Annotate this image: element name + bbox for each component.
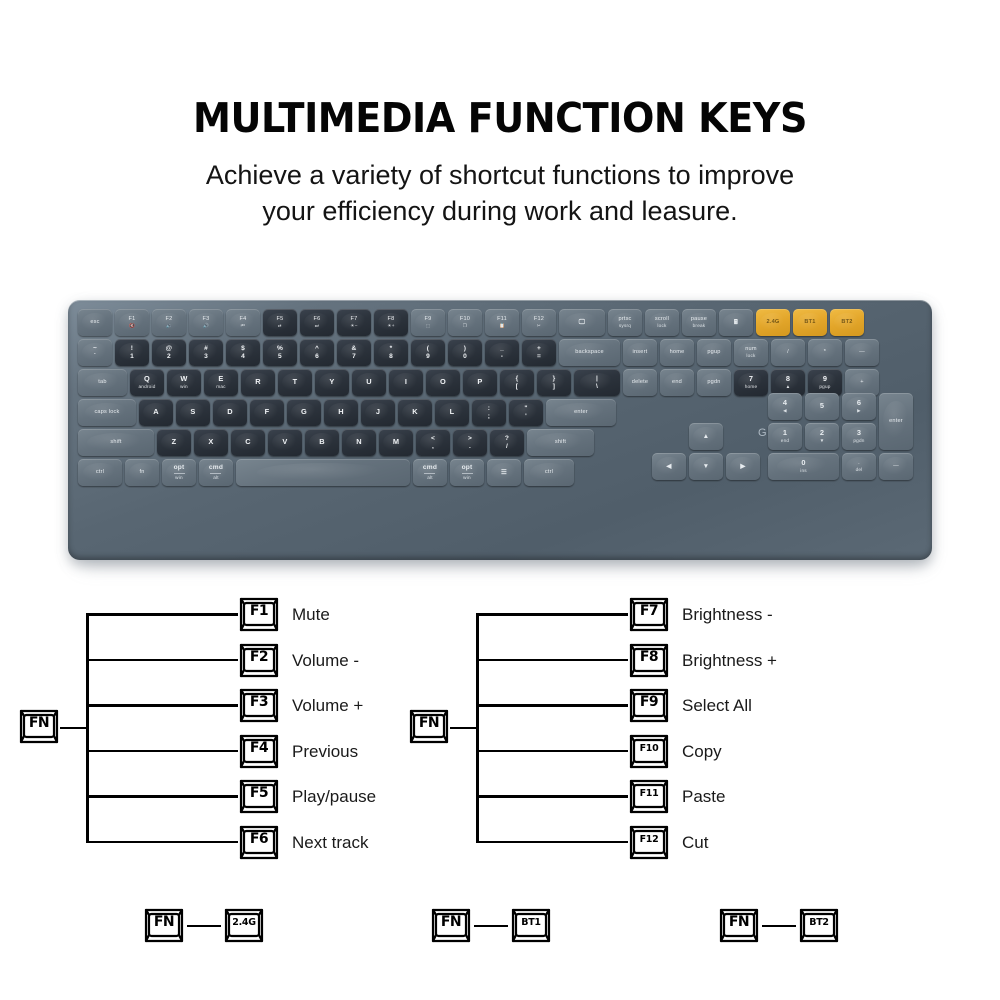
connector-line: [476, 659, 628, 662]
key-sublegend: android: [138, 384, 155, 390]
key-f4[interactable]: F4⏮: [226, 309, 260, 336]
header-section: MULTIMEDIA FUNCTION KEYS Achieve a varie…: [0, 0, 1000, 229]
key-win[interactable]: optwin: [162, 459, 196, 486]
keycap-label: F6: [238, 831, 280, 847]
key-legend-bottom: /: [506, 443, 508, 451]
key-legend: U: [366, 378, 372, 387]
key-6[interactable]: ^6: [300, 339, 334, 366]
key-c[interactable]: C: [231, 429, 265, 456]
key-p[interactable]: P: [463, 369, 497, 396]
key-f5[interactable]: F5⏯: [263, 309, 297, 336]
key-d[interactable]: D: [213, 399, 247, 426]
key-[interactable]: +=: [522, 339, 556, 366]
key-[interactable]: "': [509, 399, 543, 426]
page-title: MULTIMEDIA FUNCTION KEYS: [35, 94, 965, 142]
key-.[interactable]: .del: [842, 453, 876, 480]
key-8[interactable]: 8▲: [771, 369, 805, 396]
key-legend-top: _: [500, 345, 504, 353]
key-legend: 9: [823, 375, 827, 384]
keycap-label: F7: [628, 603, 670, 619]
key-legend-top: >: [468, 435, 472, 443]
keyboard-image: escF1🔇F2🔉F3🔊F4⏮F5⏯F6⏭F7☀−F8☀+F9⬚F10❐F11📋…: [68, 300, 932, 560]
callout-action-label: Cut: [682, 833, 708, 853]
key-8[interactable]: *8: [374, 339, 408, 366]
key-b[interactable]: B: [305, 429, 339, 456]
key-9[interactable]: 9pgup: [808, 369, 842, 396]
key-5[interactable]: 5: [805, 393, 839, 420]
callout-row: F6Next track: [238, 825, 369, 861]
key--[interactable]: *: [808, 339, 842, 366]
key-legend-top: (: [427, 345, 429, 353]
key-legend-bottom: 0: [463, 353, 467, 361]
keycap-f7[interactable]: F7: [628, 597, 670, 633]
key-legend-top: $: [241, 345, 245, 353]
key--[interactable]: —: [845, 339, 879, 366]
key-[interactable]: :;: [472, 399, 506, 426]
key-a[interactable]: A: [139, 399, 173, 426]
key-ctrl[interactable]: ctrl: [524, 459, 574, 486]
key-legend-bottom: -: [501, 353, 503, 361]
keycap-f11[interactable]: F11: [628, 779, 670, 815]
key-legend-bottom: 4: [241, 353, 245, 361]
key-legend: G: [301, 408, 307, 417]
callout-row: F10Copy: [628, 734, 722, 770]
key-legend: F7: [351, 316, 358, 323]
key-legend: .: [858, 460, 860, 467]
mute-icon: 🔇: [129, 323, 135, 329]
key-[interactable]: |\: [574, 369, 620, 396]
key-legend: prtsc: [618, 316, 631, 323]
key-legend-top: %: [277, 345, 283, 353]
key-[interactable]: ~`: [78, 339, 112, 366]
callout-row: F1Mute: [238, 597, 330, 633]
key-fn[interactable]: fn: [125, 459, 159, 486]
key-alt[interactable]: cmdalt: [199, 459, 233, 486]
key-[interactable]: ?/: [490, 429, 524, 456]
key-legend: home: [670, 349, 685, 356]
callout-row: F8Brightness +: [628, 643, 777, 679]
arrow-up-icon: ▲: [786, 384, 791, 390]
key-legend-bottom: ,: [432, 443, 434, 451]
volume-down-icon: 🔉: [166, 323, 172, 329]
keycap-f1[interactable]: F1: [238, 597, 280, 633]
callout-action-label: Volume +: [292, 696, 363, 716]
key-3[interactable]: #3: [189, 339, 223, 366]
keycap-bt1[interactable]: BT1: [510, 908, 552, 944]
key-alt[interactable]: cmdalt: [413, 459, 447, 486]
key-f3[interactable]: F3🔊: [189, 309, 223, 336]
key-legend-top: #: [204, 345, 208, 353]
keycap-label: F10: [628, 743, 670, 754]
keycap-label: FN: [18, 715, 60, 731]
key-r[interactable]: R: [241, 369, 275, 396]
key-legend: W: [180, 375, 187, 384]
key-m[interactable]: M: [379, 429, 413, 456]
key-ctrl[interactable]: ctrl: [78, 459, 122, 486]
key-end[interactable]: end: [660, 369, 694, 396]
key-legend-bottom: 9: [426, 353, 430, 361]
keycap-label: F1: [238, 603, 280, 619]
key-caps-lock[interactable]: caps lock: [78, 399, 136, 426]
callout-row: F11Paste: [628, 779, 725, 815]
key-[interactable]: }]: [537, 369, 571, 396]
key-legend-bottom: 5: [278, 353, 282, 361]
key-legend: insert: [633, 349, 648, 356]
key-legend: caps lock: [94, 409, 119, 416]
key-legend: I: [405, 378, 407, 387]
connector-bus: [476, 613, 479, 841]
callout-row: F9Select All: [628, 688, 752, 724]
keycap-fn[interactable]: FN: [718, 908, 760, 944]
connector-line: [187, 925, 221, 928]
key-legend: O: [440, 378, 446, 387]
keycap-f3[interactable]: F3: [238, 688, 280, 724]
key-[interactable]: _-: [485, 339, 519, 366]
key-l[interactable]: L: [435, 399, 469, 426]
keycap-bt2[interactable]: BT2: [798, 908, 840, 944]
display-icon: 🖵: [579, 319, 586, 327]
key--[interactable]: +: [845, 369, 879, 396]
keycap-f5[interactable]: F5: [238, 779, 280, 815]
combo-bt1: FNBT1: [430, 908, 552, 944]
key-legend-divider: [210, 473, 221, 474]
key-f12[interactable]: F12✂: [522, 309, 556, 336]
keycap-label: FN: [430, 914, 472, 930]
paste-icon: 📋: [499, 323, 505, 329]
key-legend-bottom: ': [525, 413, 527, 421]
keycap-label: FN: [408, 715, 450, 731]
key-legend: 8: [786, 375, 790, 384]
connector-line: [86, 750, 238, 753]
key-[interactable]: <,: [416, 429, 450, 456]
arrow-up-icon: ▲: [703, 433, 710, 441]
key-2[interactable]: 2▼: [805, 423, 839, 450]
keyboard-row-function: escF1🔇F2🔉F3🔊F4⏮F5⏯F6⏭F7☀−F8☀+F9⬚F10❐F11📋…: [78, 309, 923, 336]
keycap-f6[interactable]: F6: [238, 825, 280, 861]
keycap-fn[interactable]: FN: [430, 908, 472, 944]
connector-line: [762, 925, 796, 928]
key-7[interactable]: 7home: [734, 369, 768, 396]
key-space[interactable]: [236, 459, 410, 486]
key-u[interactable]: U: [352, 369, 386, 396]
key--[interactable]: /: [771, 339, 805, 366]
key-legend: A: [153, 408, 159, 417]
key-y[interactable]: Y: [315, 369, 349, 396]
key-shift[interactable]: shift: [527, 429, 594, 456]
key-s[interactable]: S: [176, 399, 210, 426]
callout-row: F2Volume -: [238, 643, 359, 679]
callout-row: F12Cut: [628, 825, 708, 861]
key-legend-bottom: `: [94, 353, 96, 361]
key-g[interactable]: G: [287, 399, 321, 426]
key-3[interactable]: 3pgdn: [842, 423, 876, 450]
key-h[interactable]: H: [324, 399, 358, 426]
key-arrow-up-icon[interactable]: ▲: [689, 423, 723, 450]
key-num[interactable]: numlock: [734, 339, 768, 366]
key-legend-divider: [462, 473, 473, 474]
callout-action-label: Paste: [682, 787, 725, 807]
key-legend: L: [450, 408, 455, 417]
callout-action-label: Previous: [292, 742, 358, 762]
keycap-label: FN: [143, 914, 185, 930]
key-legend-bottom: ]: [553, 383, 555, 391]
key-legend: F9: [425, 316, 432, 323]
key-[interactable]: {[: [500, 369, 534, 396]
key-enter[interactable]: enter: [546, 399, 616, 426]
keycap-f10[interactable]: F10: [628, 734, 670, 770]
key-tab[interactable]: tab: [78, 369, 127, 396]
play-pause-icon: ⏯: [278, 323, 282, 329]
callout-row: F5Play/pause: [238, 779, 376, 815]
key-1[interactable]: 1end: [768, 423, 802, 450]
keycap-label: F8: [628, 649, 670, 665]
key-legend: K: [412, 408, 418, 417]
key-f[interactable]: F: [250, 399, 284, 426]
keyboard-body: escF1🔇F2🔉F3🔊F4⏮F5⏯F6⏭F7☀−F8☀+F9⬚F10❐F11📋…: [68, 300, 932, 560]
key-legend: E: [218, 375, 223, 384]
key-legend: 2: [820, 429, 824, 438]
next-track-icon: ⏭: [315, 323, 319, 329]
key-legend: 4: [783, 399, 787, 408]
copy-icon: ❐: [463, 323, 467, 329]
key-5[interactable]: %5: [263, 339, 297, 366]
key-sublegend: del: [856, 467, 863, 473]
connector-line: [476, 613, 628, 616]
key-sublegend: lock: [746, 353, 755, 359]
callout-action-label: Brightness -: [682, 605, 773, 625]
brightness-up-icon: ☀+: [387, 323, 394, 329]
calculator-icon: 🖩: [734, 319, 738, 327]
key-legend: shift: [110, 439, 121, 446]
keycap-f2[interactable]: F2: [238, 643, 280, 679]
key-arrow-right-icon[interactable]: ▶: [726, 453, 760, 480]
key-f7[interactable]: F7☀−: [337, 309, 371, 336]
callout-action-label: Mute: [292, 605, 330, 625]
key-legend: F: [265, 408, 270, 417]
key-legend-top: |: [596, 375, 598, 383]
key-backspace[interactable]: backspace: [559, 339, 620, 366]
key-home[interactable]: home: [660, 339, 694, 366]
key-f2[interactable]: F2🔉: [152, 309, 186, 336]
page-subtitle: Achieve a variety of shortcut functions …: [140, 158, 860, 229]
key-legend: pgdn: [707, 379, 720, 386]
key-9[interactable]: (9: [411, 339, 445, 366]
key-legend: BT1: [804, 319, 815, 326]
key-pgup[interactable]: pgup: [697, 339, 731, 366]
key-legend-top: @: [166, 345, 173, 353]
keycap-label: F2: [238, 649, 280, 665]
callout-row: F4Previous: [238, 734, 358, 770]
keycap-f8[interactable]: F8: [628, 643, 670, 679]
key-legend-top: ": [524, 405, 527, 413]
connector-line: [476, 795, 628, 798]
key-legend: S: [190, 408, 195, 417]
key-f11[interactable]: F11📋: [485, 309, 519, 336]
connector-line: [474, 925, 508, 928]
key-t[interactable]: T: [278, 369, 312, 396]
keycap-24g[interactable]: 2.4G: [223, 908, 265, 944]
key-legend-bottom: alt: [427, 475, 433, 481]
key-legend: 1: [783, 429, 787, 438]
key-0[interactable]: )0: [448, 339, 482, 366]
key-legend: Z: [172, 438, 177, 447]
key-legend: —: [859, 349, 865, 356]
key-legend: C: [245, 438, 251, 447]
key-legend-top: ): [464, 345, 466, 353]
key-delete[interactable]: delete: [623, 369, 657, 396]
key-pgdn[interactable]: pgdn: [697, 369, 731, 396]
key-f9[interactable]: F9⬚: [411, 309, 445, 336]
key-legend: J: [376, 408, 380, 417]
key-n[interactable]: N: [342, 429, 376, 456]
key-pause[interactable]: pausebreak: [682, 309, 716, 336]
key-legend-top: }: [553, 375, 556, 383]
key-k[interactable]: K: [398, 399, 432, 426]
key-legend: Y: [329, 378, 334, 387]
key-[interactable]: >.: [453, 429, 487, 456]
key-legend: X: [208, 438, 213, 447]
key-legend: M: [393, 438, 399, 447]
key-legend: F2: [166, 316, 173, 323]
key-enter[interactable]: enter: [879, 393, 913, 450]
key-sublegend: pgup: [819, 384, 830, 390]
key-i[interactable]: I: [389, 369, 423, 396]
key-display-icon[interactable]: 🖵: [559, 309, 605, 336]
key-scroll[interactable]: scrolllock: [645, 309, 679, 336]
key-f1[interactable]: F1🔇: [115, 309, 149, 336]
key-legend: B: [319, 438, 325, 447]
key-legend: fn: [139, 469, 144, 476]
key-6[interactable]: 6▶: [842, 393, 876, 420]
key-legend-top: ^: [315, 345, 319, 353]
key-f10[interactable]: F10❐: [448, 309, 482, 336]
key-j[interactable]: J: [361, 399, 395, 426]
key-legend: 5: [820, 402, 824, 411]
combo-24g: FN2.4G: [143, 908, 265, 944]
key-bt1[interactable]: BT1□: [793, 309, 827, 336]
key-4[interactable]: 4◀: [768, 393, 802, 420]
key-legend: esc: [90, 319, 99, 326]
key-calculator-icon[interactable]: 🖩: [719, 309, 753, 336]
key-v[interactable]: V: [268, 429, 302, 456]
connector-bus: [86, 613, 89, 841]
keycap-fn[interactable]: FN: [18, 709, 60, 745]
key-legend: H: [338, 408, 344, 417]
key-win[interactable]: optwin: [450, 459, 484, 486]
key-legend-divider: [424, 473, 435, 474]
key-q[interactable]: Qandroid: [130, 369, 164, 396]
connector-line: [476, 841, 628, 844]
key--[interactable]: —: [879, 453, 913, 480]
key-prtsc[interactable]: prtscsysrq: [608, 309, 642, 336]
key-legend-top: :: [488, 405, 490, 413]
key-0[interactable]: 0ins: [768, 453, 839, 480]
key-menu-icon[interactable]: ☰: [487, 459, 521, 486]
key-e[interactable]: Emac: [204, 369, 238, 396]
cut-icon: ✂: [537, 323, 541, 329]
keycap-label: F4: [238, 740, 280, 756]
key-x[interactable]: X: [194, 429, 228, 456]
keycap-f9[interactable]: F9: [628, 688, 670, 724]
key-sublegend: sysrq: [619, 323, 631, 329]
key-legend-bottom: 6: [315, 353, 319, 361]
key-f8[interactable]: F8☀+: [374, 309, 408, 336]
key-sublegend: end: [781, 438, 789, 444]
callout-action-label: Select All: [682, 696, 752, 716]
key-shift[interactable]: shift: [78, 429, 154, 456]
key-legend: N: [356, 438, 362, 447]
key-legend: +: [860, 379, 863, 386]
key-legend: 2.4G: [767, 319, 780, 326]
key-z[interactable]: Z: [157, 429, 191, 456]
connector-line: [86, 795, 238, 798]
key-legend: R: [255, 378, 261, 387]
key-legend: Q: [144, 375, 150, 384]
key-w[interactable]: Wwin: [167, 369, 201, 396]
key-legend-top: {: [516, 375, 519, 383]
key-arrow-left-icon[interactable]: ◀: [652, 453, 686, 480]
key-sublegend: pgdn: [853, 438, 864, 444]
connector-line: [60, 727, 88, 730]
key-legend-top: ~: [93, 345, 97, 353]
keycap-label: F5: [238, 785, 280, 801]
key-insert[interactable]: insert: [623, 339, 657, 366]
key-legend: F10: [460, 316, 470, 323]
keycap-f4[interactable]: F4: [238, 734, 280, 770]
key-2[interactable]: @2: [152, 339, 186, 366]
keycap-label: BT1: [510, 917, 552, 928]
key-o[interactable]: O: [426, 369, 460, 396]
key-1[interactable]: !1: [115, 339, 149, 366]
key-legend: F12: [534, 316, 544, 323]
key-legend: F8: [388, 316, 395, 323]
subtitle-line-1: Achieve a variety of shortcut functions …: [140, 158, 860, 194]
connector-line: [86, 841, 238, 844]
key-7[interactable]: &7: [337, 339, 371, 366]
key-sublegend: ins: [800, 468, 807, 474]
key-legend: 7: [749, 375, 753, 384]
key-legend-bottom: 2: [167, 353, 171, 361]
callout-action-label: Brightness +: [682, 651, 777, 671]
keycap-f12[interactable]: F12: [628, 825, 670, 861]
key-sublegend: home: [745, 384, 758, 390]
callout-action-label: Volume -: [292, 651, 359, 671]
key-f6[interactable]: F6⏭: [300, 309, 334, 336]
keycap-label: F9: [628, 694, 670, 710]
connection-combos: FN2.4GFNBT1FNBT2: [0, 900, 1000, 970]
callout-action-label: Play/pause: [292, 787, 376, 807]
key-legend: ctrl: [96, 469, 104, 476]
key-legend: pgup: [707, 349, 720, 356]
keycap-fn[interactable]: FN: [408, 709, 450, 745]
select-all-icon: ⬚: [426, 323, 431, 329]
key-esc[interactable]: esc: [78, 309, 112, 336]
keycap-label: 2.4G: [223, 917, 265, 928]
combo-bt2: FNBT2: [718, 908, 840, 944]
key-legend: num: [745, 346, 756, 353]
keycap-label: FN: [718, 914, 760, 930]
key-legend: end: [672, 379, 682, 386]
key-legend-top: opt: [462, 464, 473, 472]
key-4[interactable]: $4: [226, 339, 260, 366]
key-sublegend: lock: [657, 323, 666, 329]
keycap-fn[interactable]: FN: [143, 908, 185, 944]
key-legend: shift: [555, 439, 566, 446]
key-legend: backspace: [575, 349, 604, 356]
key-2.4g[interactable]: 2.4G□: [756, 309, 790, 336]
key-bt2[interactable]: BT2□: [830, 309, 864, 336]
key-arrow-down-icon[interactable]: ▼: [689, 453, 723, 480]
